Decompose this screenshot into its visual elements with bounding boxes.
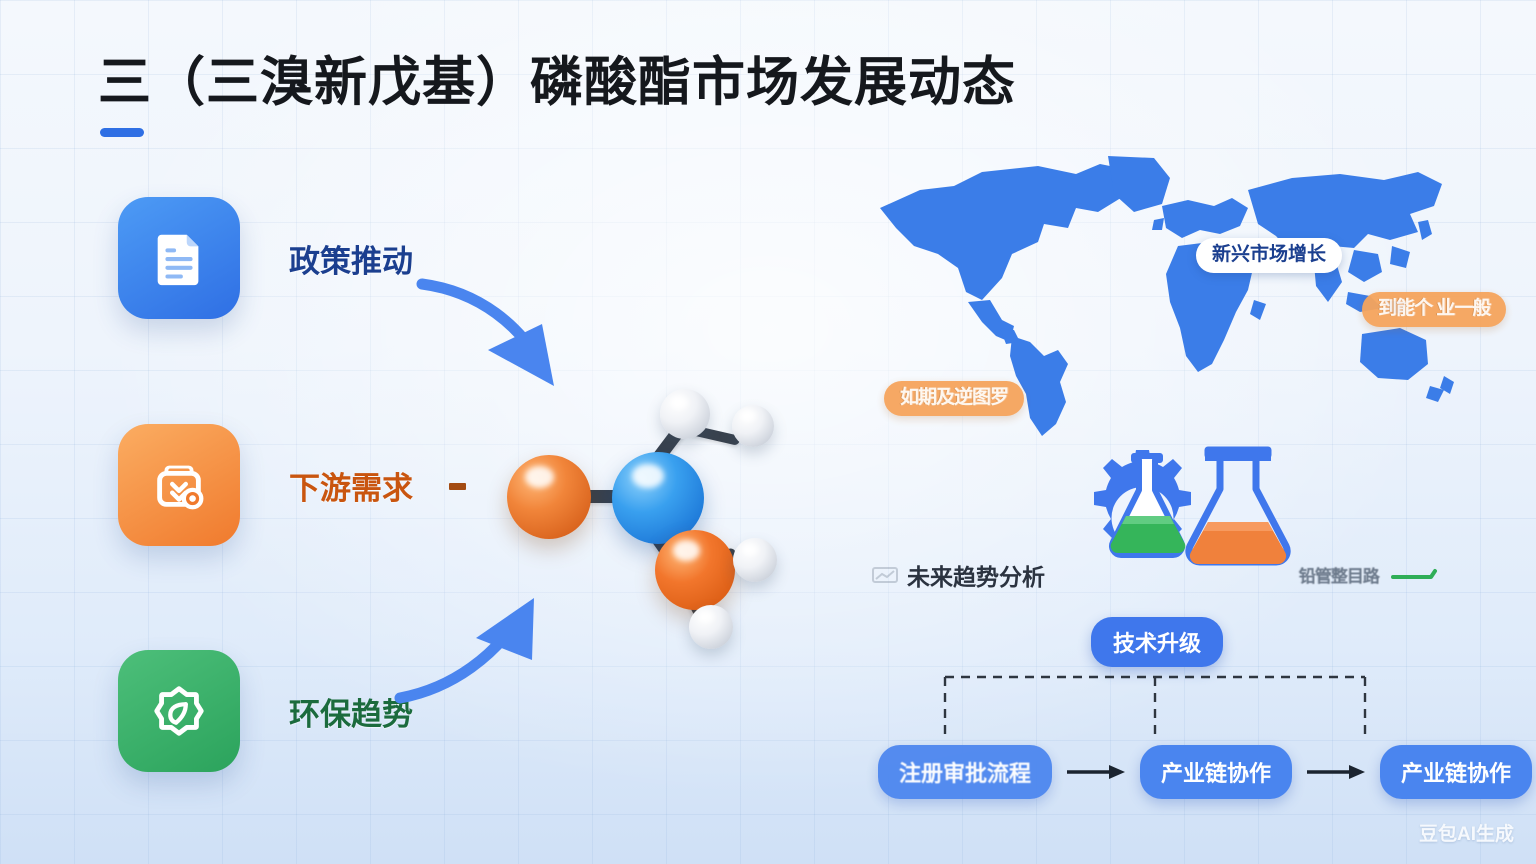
flow-box-label: 注册审批流程 — [899, 761, 1031, 786]
tech-upgrade-pill[interactable]: 技术升级 — [1091, 617, 1223, 667]
flow-box[interactable]: 产业链协作 — [1380, 745, 1532, 799]
document-icon — [118, 197, 240, 319]
legend-row: 铅管整目路 — [1299, 562, 1439, 587]
flow-arrow-icon — [1305, 764, 1367, 780]
flow-box-label: 产业链协作 — [1401, 761, 1511, 786]
flow-box[interactable]: 产业链协作 — [1140, 745, 1292, 799]
flow-arrow-icon — [1065, 764, 1127, 780]
white-atom-2 — [732, 405, 774, 447]
white-atom-4 — [689, 605, 733, 649]
watermark: 豆包AI生成 — [1419, 819, 1514, 846]
chart-icon — [872, 565, 898, 585]
flow-connector — [920, 672, 1390, 750]
feature-item-eco[interactable]: 环保趋势 — [118, 650, 413, 772]
map-pill-left[interactable]: 如期及逆图罗 — [884, 381, 1024, 416]
orange-atom-bottom — [655, 530, 735, 610]
legend-label: 铅管整目路 — [1299, 562, 1379, 587]
gear-and-flasks-icon — [1058, 438, 1310, 610]
map-pill-label: 到能个 业一般 — [1378, 298, 1490, 319]
feature-item-policy[interactable]: 政策推动 — [118, 197, 413, 319]
flow-box-label: 产业链协作 — [1161, 761, 1271, 786]
white-atom-3 — [733, 538, 777, 582]
map-pill-label: 如期及逆图罗 — [900, 387, 1008, 408]
title-accent-bar — [100, 128, 144, 137]
feature-item-demand[interactable]: 下游需求 — [118, 424, 413, 546]
map-pill-label: 新兴市场增长 — [1212, 244, 1326, 265]
legend-line-icon — [1391, 568, 1439, 582]
trend-analysis-row: 未来趋势分析 — [872, 558, 1045, 592]
flow-box[interactable]: 注册审批流程 — [878, 745, 1052, 799]
trend-analysis-label: 未来趋势分析 — [907, 558, 1045, 592]
white-atom-1 — [660, 389, 710, 439]
molecule-3d — [455, 375, 815, 665]
feature-label: 下游需求 — [289, 463, 413, 508]
page-title: 三（三溴新戊基）磷酸酯市场发展动态 — [98, 40, 1016, 116]
package-download-icon — [118, 424, 240, 546]
map-pill-right[interactable]: 到能个 业一般 — [1362, 292, 1506, 327]
map-pill-emerging-market[interactable]: 新兴市场增长 — [1196, 238, 1342, 273]
process-flow: 注册审批流程 产业链协作 产业链协作 — [878, 745, 1532, 799]
tech-upgrade-label: 技术升级 — [1113, 631, 1201, 656]
orange-atom-left — [507, 455, 591, 539]
eco-shield-icon — [118, 650, 240, 772]
slide-canvas: 三（三溴新戊基）磷酸酯市场发展动态 政策推动 — [0, 0, 1536, 864]
